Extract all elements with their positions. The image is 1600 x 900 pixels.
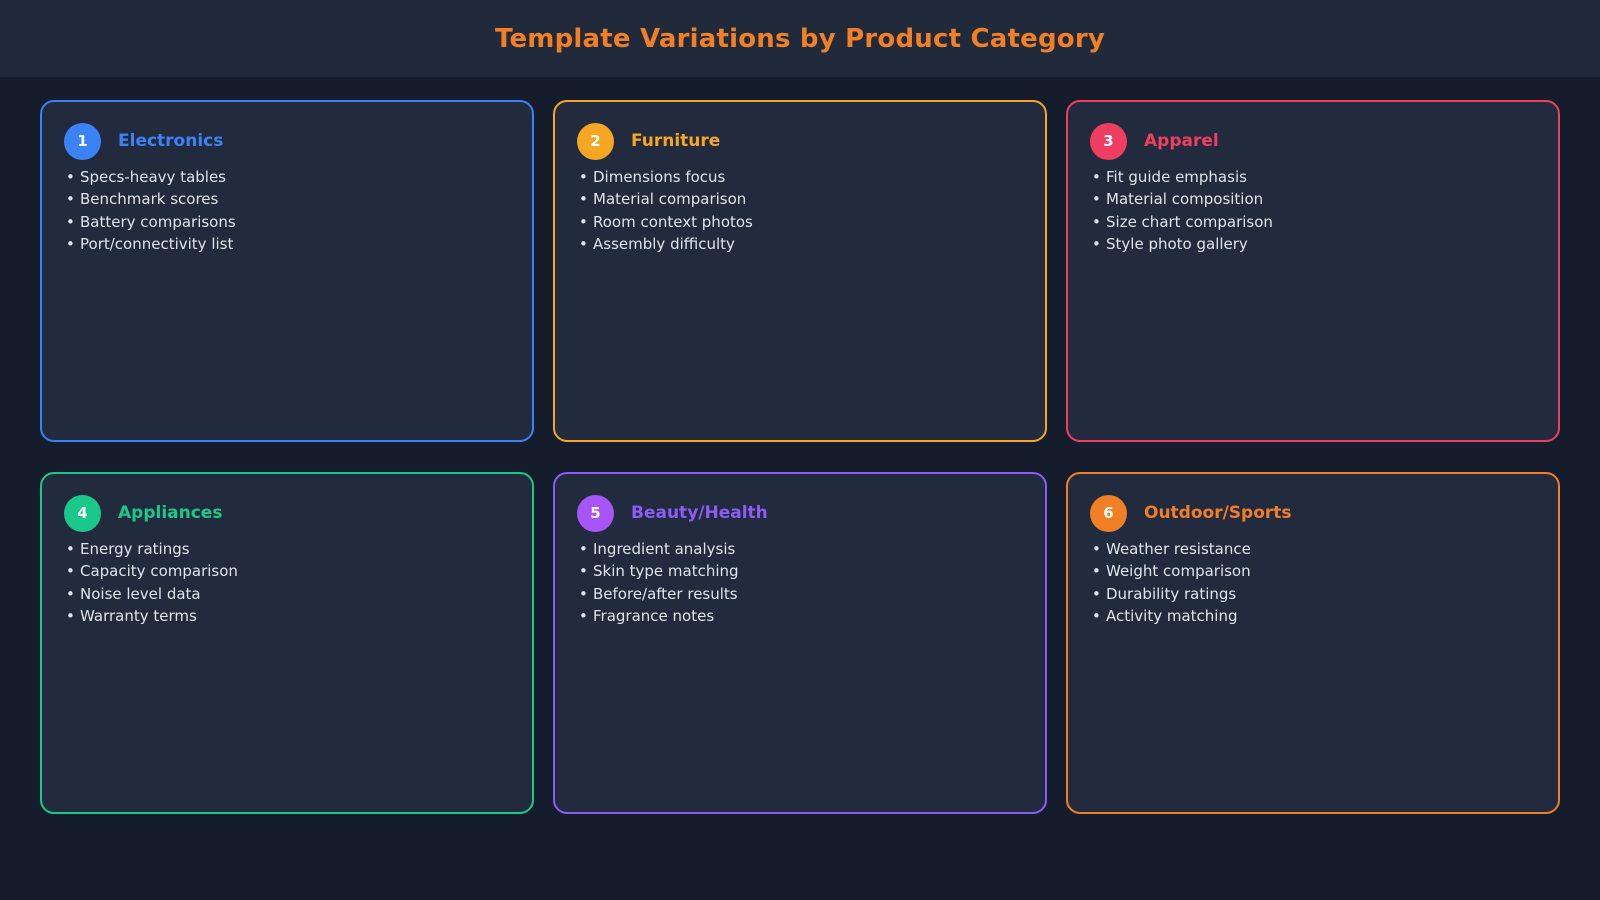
- card-number-badge: 4: [64, 495, 101, 532]
- card-number-badge: 1: [64, 123, 101, 160]
- card-header: 5Beauty/Health: [577, 494, 1023, 532]
- card-feature-item: Room context photos: [577, 211, 1023, 233]
- card-feature-item: Weight comparison: [1090, 560, 1536, 582]
- card-feature-item: Durability ratings: [1090, 583, 1536, 605]
- card-feature-item: Energy ratings: [64, 538, 510, 560]
- category-card[interactable]: 4AppliancesEnergy ratingsCapacity compar…: [40, 472, 534, 814]
- category-cards-grid: 1ElectronicsSpecs-heavy tablesBenchmark …: [40, 100, 1560, 814]
- card-feature-item: Port/connectivity list: [64, 233, 510, 255]
- card-number-badge: 3: [1090, 123, 1127, 160]
- card-number-badge: 6: [1090, 495, 1127, 532]
- card-title: Apparel: [1144, 131, 1219, 151]
- category-card[interactable]: 2FurnitureDimensions focusMaterial compa…: [553, 100, 1047, 442]
- card-number-badge: 2: [577, 123, 614, 160]
- card-feature-item: Ingredient analysis: [577, 538, 1023, 560]
- card-feature-item: Fit guide emphasis: [1090, 166, 1536, 188]
- card-feature-item: Weather resistance: [1090, 538, 1536, 560]
- card-feature-item: Warranty terms: [64, 605, 510, 627]
- card-title: Appliances: [118, 503, 222, 523]
- card-feature-list: Weather resistanceWeight comparisonDurab…: [1090, 538, 1536, 628]
- card-feature-list: Fit guide emphasisMaterial compositionSi…: [1090, 166, 1536, 256]
- card-feature-list: Specs-heavy tablesBenchmark scoresBatter…: [64, 166, 510, 256]
- card-feature-item: Specs-heavy tables: [64, 166, 510, 188]
- card-header: 4Appliances: [64, 494, 510, 532]
- card-title: Furniture: [631, 131, 720, 151]
- header-band: Template Variations by Product Category: [0, 0, 1600, 77]
- category-card[interactable]: 1ElectronicsSpecs-heavy tablesBenchmark …: [40, 100, 534, 442]
- card-feature-item: Size chart comparison: [1090, 211, 1536, 233]
- card-feature-item: Dimensions focus: [577, 166, 1023, 188]
- card-header: 1Electronics: [64, 122, 510, 160]
- card-number-badge: 5: [577, 495, 614, 532]
- page-title: Template Variations by Product Category: [495, 24, 1105, 54]
- card-feature-item: Style photo gallery: [1090, 233, 1536, 255]
- card-feature-list: Dimensions focusMaterial comparisonRoom …: [577, 166, 1023, 256]
- card-feature-item: Material composition: [1090, 188, 1536, 210]
- card-title: Beauty/Health: [631, 503, 768, 523]
- card-title: Electronics: [118, 131, 223, 151]
- card-header: 3Apparel: [1090, 122, 1536, 160]
- card-feature-item: Battery comparisons: [64, 211, 510, 233]
- card-feature-list: Ingredient analysisSkin type matchingBef…: [577, 538, 1023, 628]
- card-feature-item: Fragrance notes: [577, 605, 1023, 627]
- card-title: Outdoor/Sports: [1144, 503, 1292, 523]
- card-feature-item: Benchmark scores: [64, 188, 510, 210]
- card-feature-item: Assembly difficulty: [577, 233, 1023, 255]
- card-feature-item: Activity matching: [1090, 605, 1536, 627]
- card-header: 2Furniture: [577, 122, 1023, 160]
- card-header: 6Outdoor/Sports: [1090, 494, 1536, 532]
- category-card[interactable]: 5Beauty/HealthIngredient analysisSkin ty…: [553, 472, 1047, 814]
- card-feature-item: Skin type matching: [577, 560, 1023, 582]
- card-feature-item: Before/after results: [577, 583, 1023, 605]
- category-card[interactable]: 6Outdoor/SportsWeather resistanceWeight …: [1066, 472, 1560, 814]
- category-card[interactable]: 3ApparelFit guide emphasisMaterial compo…: [1066, 100, 1560, 442]
- card-feature-item: Noise level data: [64, 583, 510, 605]
- card-feature-item: Material comparison: [577, 188, 1023, 210]
- card-feature-list: Energy ratingsCapacity comparisonNoise l…: [64, 538, 510, 628]
- card-feature-item: Capacity comparison: [64, 560, 510, 582]
